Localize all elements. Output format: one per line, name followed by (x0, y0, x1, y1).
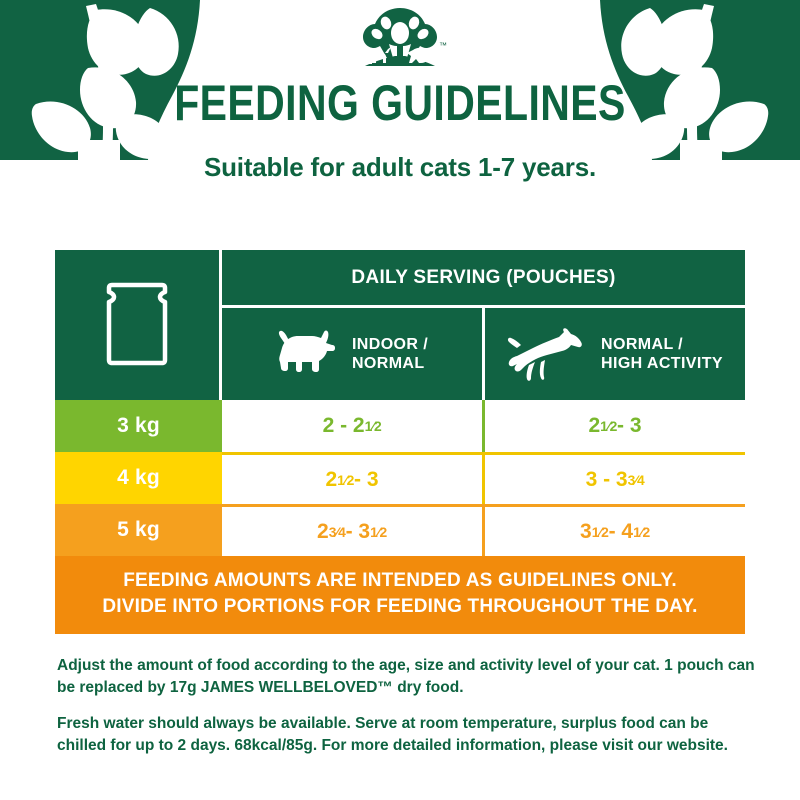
serving-cell-indoor: 2 - 21⁄2 (222, 400, 482, 452)
footer-paragraph-2: Fresh water should always be available. … (57, 713, 757, 757)
weight-cell: 5 kg (55, 504, 222, 556)
serving-cell-active: 31⁄2 - 41⁄2 (482, 504, 745, 556)
column-header-indoor-line1: INDOOR / (352, 336, 428, 353)
table-row: 4 kg21⁄2 - 33 - 33⁄4 (55, 452, 745, 504)
banner-line-1: FEEDING AMOUNTS ARE INTENDED AS GUIDELIN… (55, 568, 745, 594)
pouch-icon (55, 250, 222, 400)
footer-paragraph-1: Adjust the amount of food according to t… (57, 655, 757, 699)
table-header: DAILY SERVING (POUCHES) INDOOR / NORMAL (55, 250, 745, 400)
daily-serving-header: DAILY SERVING (POUCHES) (222, 250, 745, 308)
table-row: 5 kg23⁄4 - 31⁄231⁄2 - 41⁄2 (55, 504, 745, 556)
brand-logo: ™ (345, 6, 455, 68)
weight-cell: 3 kg (55, 400, 222, 452)
column-header-active-line2: HIGH ACTIVITY (601, 355, 723, 372)
footer-notes: Adjust the amount of food according to t… (57, 655, 757, 757)
banner-line-2: DIVIDE INTO PORTIONS FOR FEEDING THROUGH… (55, 594, 745, 620)
page-title: FEEDING GUIDELINES (72, 76, 728, 130)
column-header-active: NORMAL / HIGH ACTIVITY (482, 308, 745, 400)
table-row: 3 kg2 - 21⁄221⁄2 - 3 (55, 400, 745, 452)
serving-cell-indoor: 23⁄4 - 31⁄2 (222, 504, 482, 556)
column-header-active-line1: NORMAL / (601, 336, 683, 353)
serving-cell-indoor: 21⁄2 - 3 (222, 452, 482, 504)
weight-cell: 4 kg (55, 452, 222, 504)
serving-cell-active: 21⁄2 - 3 (482, 400, 745, 452)
serving-cell-active: 3 - 33⁄4 (482, 452, 745, 504)
walking-cat-icon (276, 329, 338, 379)
feeding-guidelines-table: DAILY SERVING (POUCHES) INDOOR / NORMAL (55, 250, 745, 634)
leaping-cat-icon (507, 326, 587, 382)
column-header-indoor-line2: NORMAL (352, 355, 425, 372)
guidelines-banner: FEEDING AMOUNTS ARE INTENDED AS GUIDELIN… (55, 556, 745, 634)
logo-trademark: ™ (439, 41, 447, 50)
table-body: 3 kg2 - 21⁄221⁄2 - 34 kg21⁄2 - 33 - 33⁄4… (55, 400, 745, 556)
page-subtitle: Suitable for adult cats 1-7 years. (0, 152, 800, 183)
column-header-indoor: INDOOR / NORMAL (222, 308, 482, 400)
